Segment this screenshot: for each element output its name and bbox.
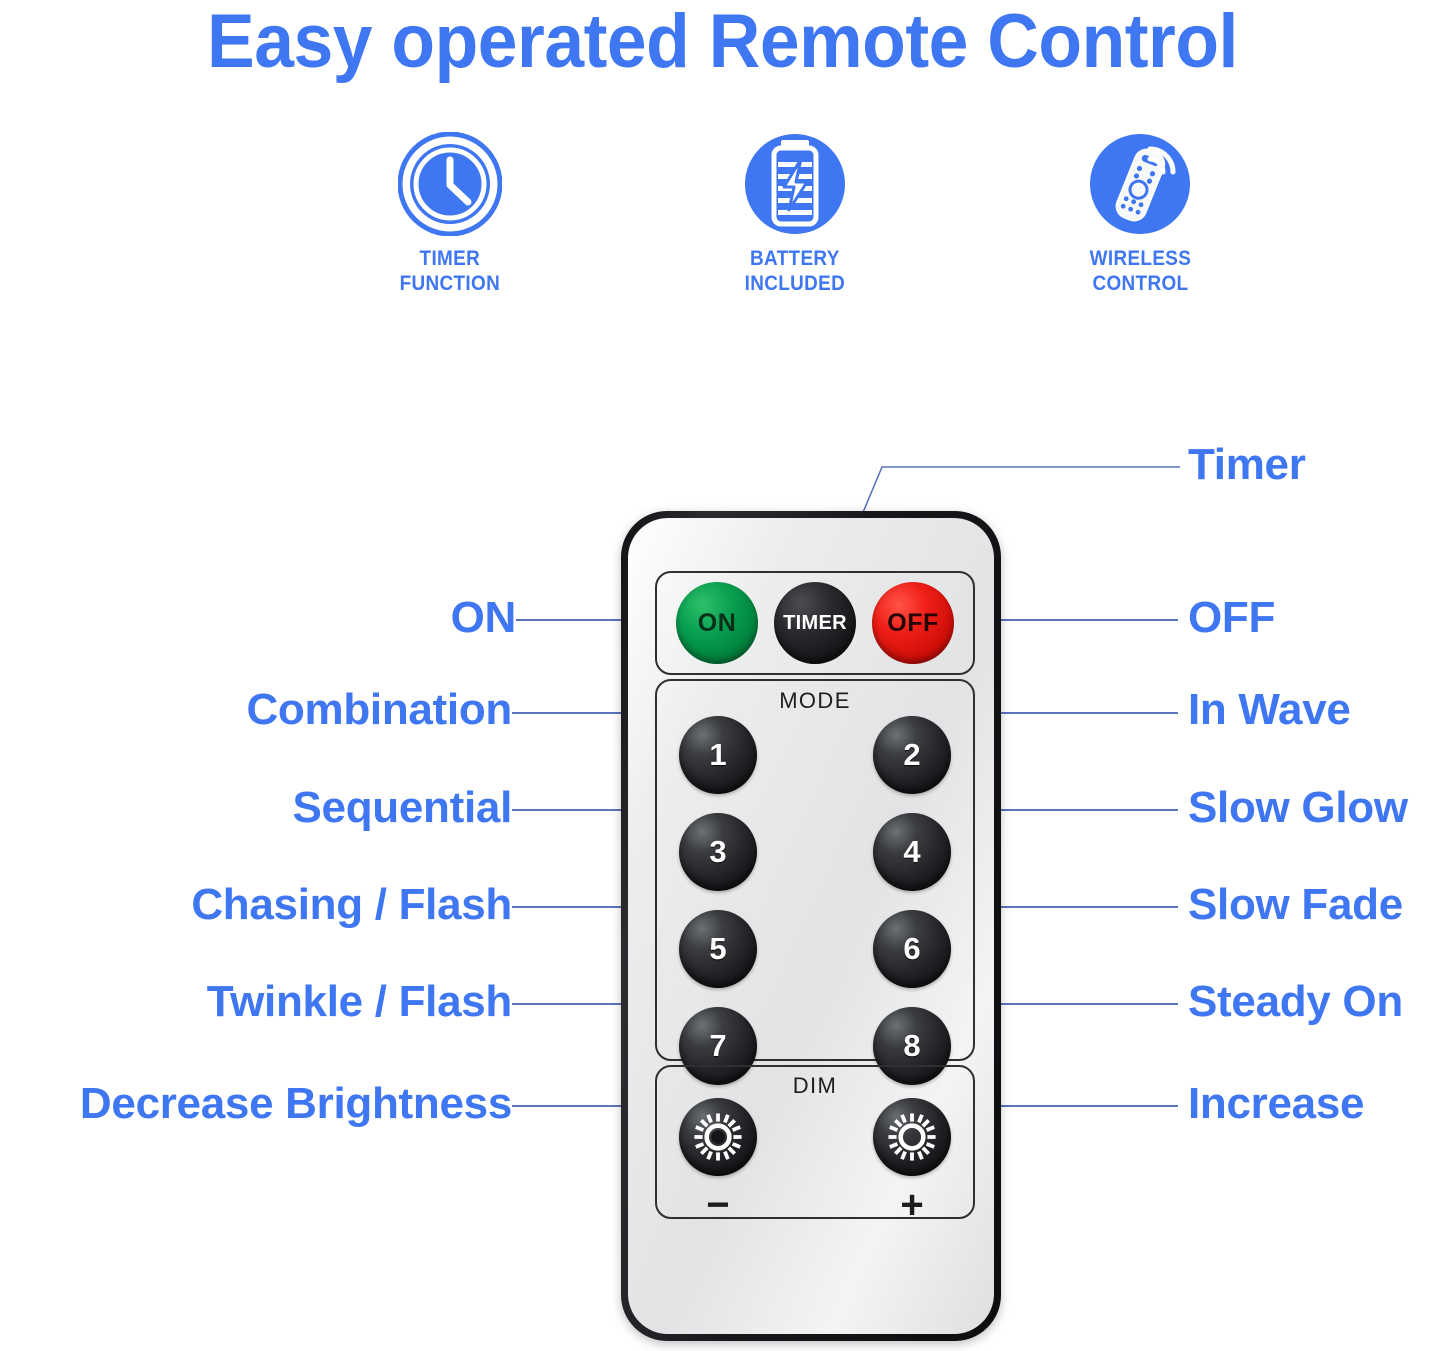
- feature-battery-included: BATTERY INCLUDED: [645, 132, 945, 317]
- callout-slow-fade-label: Slow Fade: [1188, 880, 1403, 929]
- mode-button-4-label: 4: [903, 834, 920, 870]
- increase-brightness-button[interactable]: [873, 1098, 951, 1176]
- feature-caption-line2: INCLUDED: [745, 272, 846, 297]
- callout-increase-label: Increase: [1188, 1079, 1364, 1128]
- on-button-label: ON: [698, 609, 737, 638]
- mode-button-4[interactable]: 4: [873, 813, 951, 891]
- increase-sign: +: [873, 1185, 951, 1225]
- callout-sequential-label: Sequential: [293, 783, 513, 832]
- mode-button-1-label: 1: [709, 737, 726, 773]
- callout-combination: Combination: [112, 688, 512, 732]
- mode-button-3[interactable]: 3: [679, 813, 757, 891]
- callout-increase: Increase: [1188, 1082, 1443, 1126]
- mode-button-2[interactable]: 2: [873, 716, 951, 794]
- decrease-brightness-button[interactable]: [679, 1098, 757, 1176]
- mode-section-label: MODE: [657, 688, 973, 714]
- off-button[interactable]: OFF: [872, 582, 954, 664]
- callout-slow-glow: Slow Glow: [1188, 786, 1443, 830]
- callout-decrease-brightness-label: Decrease Brightness: [80, 1079, 512, 1128]
- off-button-label: OFF: [887, 609, 939, 638]
- callout-steady-on: Steady On: [1188, 980, 1443, 1024]
- decrease-sign: −: [679, 1185, 757, 1225]
- mode-button-7-label: 7: [709, 1028, 726, 1064]
- callout-off-label: OFF: [1188, 593, 1275, 642]
- dim-section-label: DIM: [657, 1073, 973, 1099]
- infographic-page: Easy operated Remote Control TIMER FUNCT…: [0, 0, 1445, 1351]
- feature-caption-line2: CONTROL: [1089, 272, 1191, 297]
- mode-button-panel: MODE 1 2 3 4 5 6: [655, 679, 975, 1061]
- callout-on: ON: [236, 596, 516, 640]
- feature-caption-line1: TIMER: [400, 247, 501, 272]
- remote-control-device: ON TIMER OFF MODE 1 2 3: [621, 511, 1001, 1341]
- on-button[interactable]: ON: [676, 582, 758, 664]
- callout-slow-glow-label: Slow Glow: [1188, 783, 1408, 832]
- callout-timer-label: Timer: [1188, 440, 1306, 489]
- mode-button-3-label: 3: [709, 834, 726, 870]
- callout-steady-on-label: Steady On: [1188, 977, 1403, 1026]
- feature-badges-row: TIMER FUNCTION BATTERY: [300, 132, 1290, 317]
- callout-decrease-brightness: Decrease Brightness: [2, 1082, 512, 1126]
- callout-off: OFF: [1188, 596, 1438, 640]
- timer-button[interactable]: TIMER: [774, 582, 856, 664]
- mode-button-2-label: 2: [903, 737, 920, 773]
- feature-caption-line2: FUNCTION: [400, 272, 501, 297]
- feature-caption-line1: BATTERY: [745, 247, 846, 272]
- feature-caption: WIRELESS CONTROL: [1089, 247, 1191, 297]
- feature-caption: BATTERY INCLUDED: [745, 247, 846, 297]
- callout-twinkle-flash-label: Twinkle / Flash: [207, 977, 512, 1026]
- page-title: Easy operated Remote Control: [43, 0, 1401, 85]
- dim-button-panel: DIM: [655, 1065, 975, 1219]
- callout-timer: Timer: [1188, 443, 1438, 487]
- feature-timer-function: TIMER FUNCTION: [300, 132, 600, 317]
- mode-button-6-label: 6: [903, 931, 920, 967]
- mode-button-1[interactable]: 1: [679, 716, 757, 794]
- feature-caption-line1: WIRELESS: [1089, 247, 1191, 272]
- callout-chasing-flash-label: Chasing / Flash: [191, 880, 512, 929]
- callout-combination-label: Combination: [246, 685, 512, 734]
- timer-button-label: TIMER: [783, 612, 847, 635]
- mode-button-5[interactable]: 5: [679, 910, 757, 988]
- callout-in-wave: In Wave: [1188, 688, 1443, 732]
- remote-faceplate: ON TIMER OFF MODE 1 2 3: [628, 518, 994, 1334]
- callout-in-wave-label: In Wave: [1188, 685, 1351, 734]
- callout-sequential: Sequential: [112, 786, 512, 830]
- sun-hollow-icon: [883, 1108, 941, 1166]
- sun-filled-icon: [689, 1108, 747, 1166]
- mode-button-6[interactable]: 6: [873, 910, 951, 988]
- clock-icon: [398, 132, 502, 236]
- feature-caption: TIMER FUNCTION: [400, 247, 501, 297]
- callout-twinkle-flash: Twinkle / Flash: [62, 980, 512, 1024]
- callout-on-label: ON: [451, 593, 516, 642]
- mode-button-8-label: 8: [903, 1028, 920, 1064]
- mode-button-5-label: 5: [709, 931, 726, 967]
- feature-wireless-control: WIRELESS CONTROL: [990, 132, 1290, 317]
- callout-chasing-flash: Chasing / Flash: [62, 883, 512, 927]
- power-button-panel: ON TIMER OFF: [655, 571, 975, 675]
- battery-icon: [743, 132, 847, 236]
- callout-slow-fade: Slow Fade: [1188, 883, 1443, 927]
- remote-signal-icon: [1088, 132, 1192, 236]
